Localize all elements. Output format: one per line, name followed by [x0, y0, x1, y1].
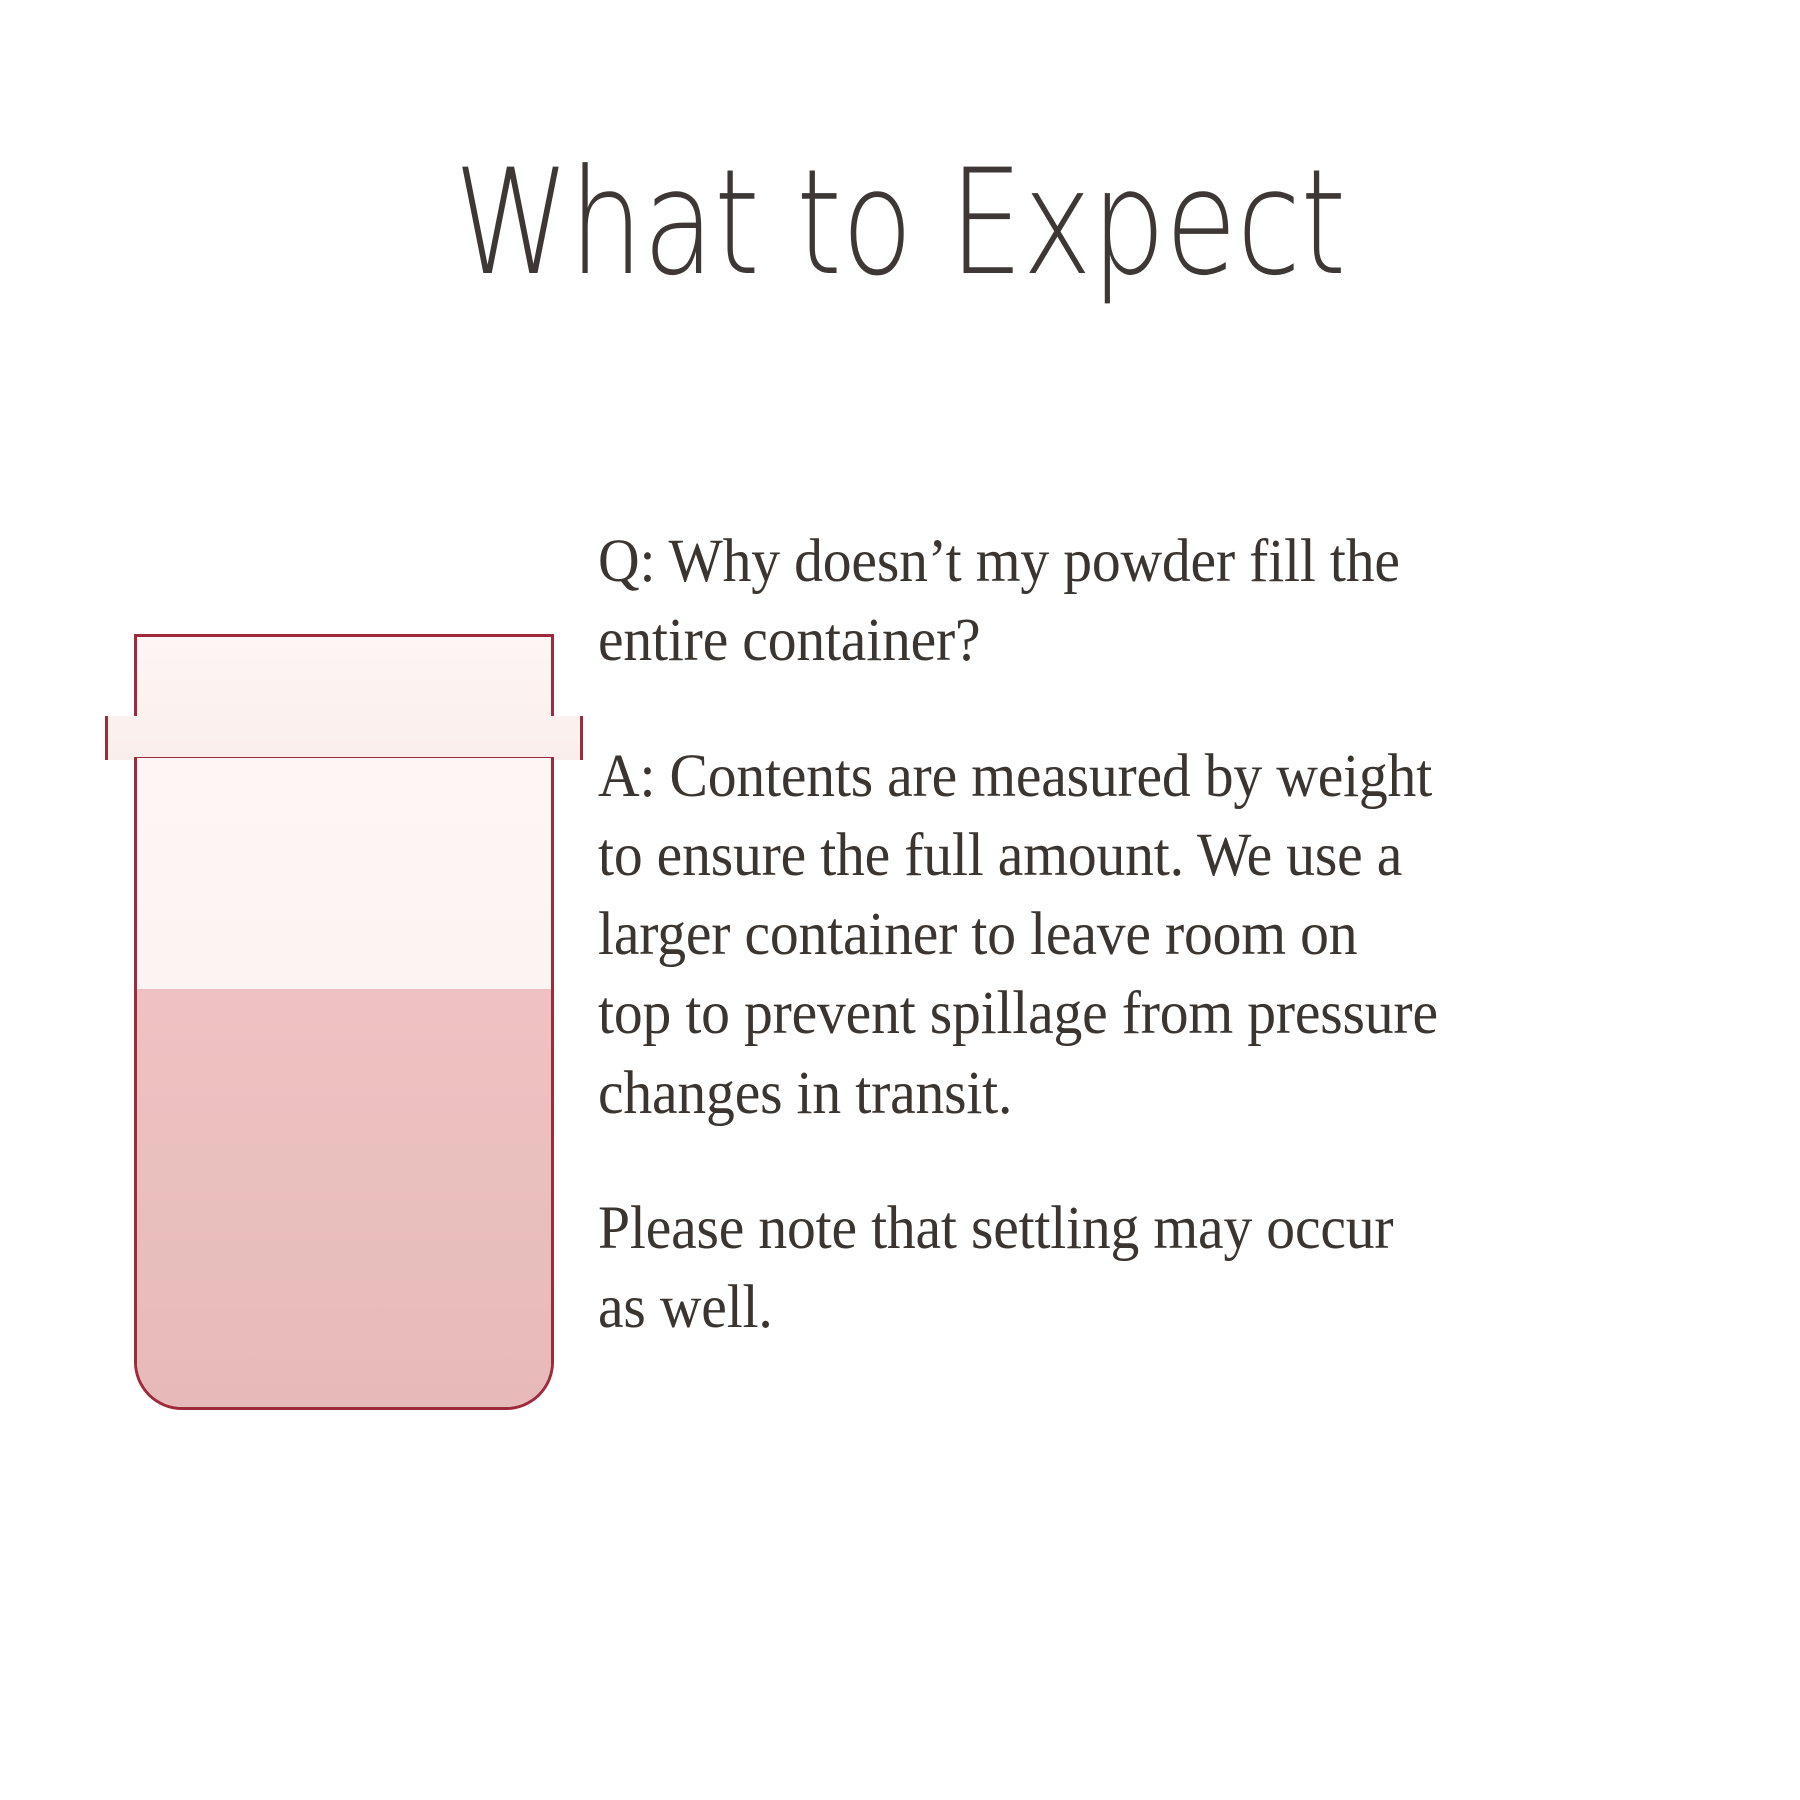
faq-text-column: Q: Why doesn’t my powder fill the entire…	[598, 522, 1488, 1348]
page-root: What to Expect Q: Why doesn’t my powder …	[0, 0, 1800, 1800]
faq-answer: A: Contents are measured by weight to en…	[598, 737, 1439, 1133]
illustration-column	[0, 0, 600, 1800]
container-powder-fill	[137, 989, 551, 1407]
faq-note: Please note that settling may occur as w…	[598, 1189, 1439, 1348]
faq-question: Q: Why doesn’t my powder fill the entire…	[598, 522, 1439, 681]
container-cap-top	[134, 634, 554, 718]
powder-container-illustration	[105, 630, 595, 1420]
container-cap-lip	[105, 716, 583, 760]
container-body	[134, 758, 554, 1410]
container-empty-headroom	[137, 758, 551, 989]
